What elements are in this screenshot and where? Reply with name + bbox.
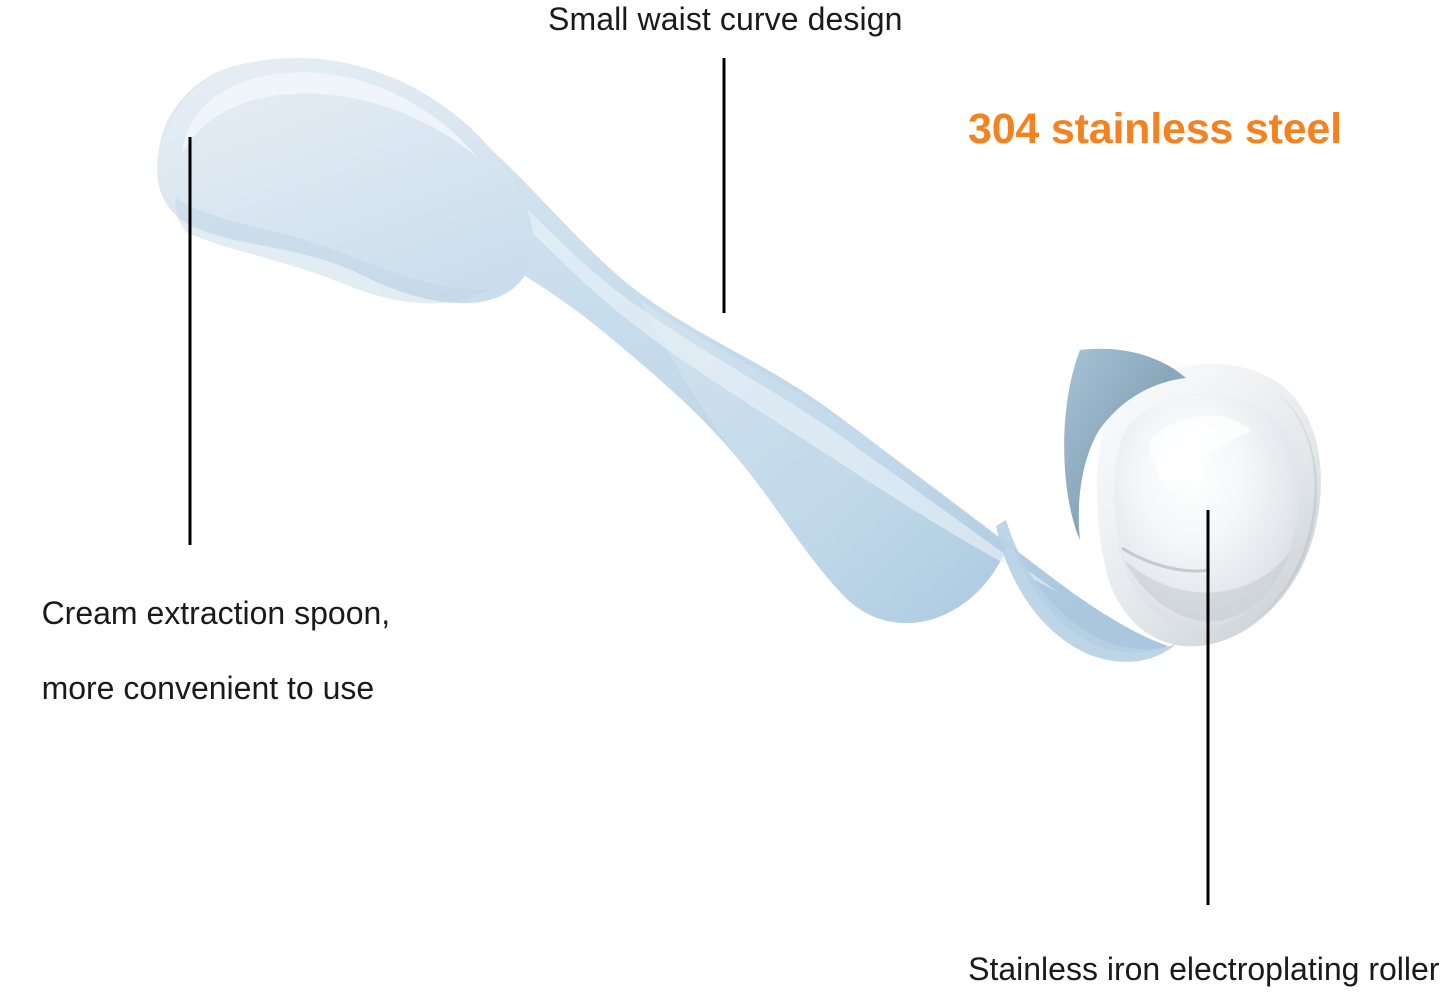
- callout-spoon-line-2: more convenient to use: [42, 670, 375, 706]
- callout-spoon-line-1: Cream extraction spoon,: [42, 595, 391, 631]
- callout-roller-line-1: Stainless iron electroplating roller: [968, 951, 1439, 987]
- callout-304-stainless-steel: 304 stainless steel: [968, 104, 1342, 155]
- product-infographic: Small waist curve design 304 stainless s…: [0, 0, 1445, 995]
- callout-small-waist-curve-design: Small waist curve design: [548, 1, 903, 39]
- callout-cream-extraction-spoon: Cream extraction spoon, more convenient …: [6, 557, 390, 746]
- callout-stainless-iron-electroplating-roller-massage-head: Stainless iron electroplating roller mas…: [928, 913, 1444, 995]
